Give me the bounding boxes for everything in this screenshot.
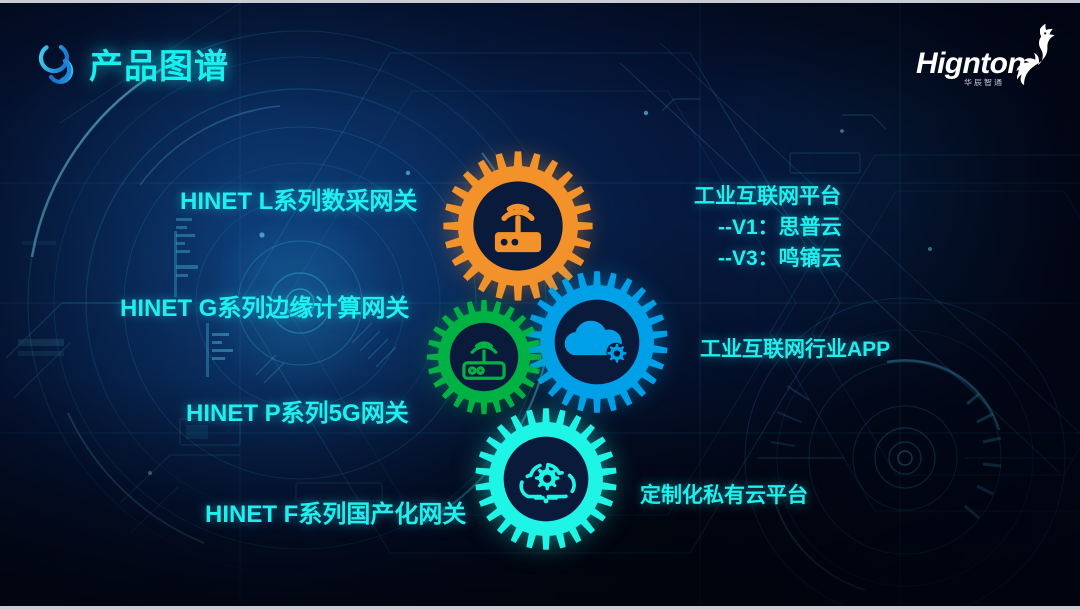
gear-cloud-platform: [524, 269, 670, 415]
cloud-gear-dashed-icon: [473, 406, 619, 552]
label-platform-v3: --V3：鸣镝云: [718, 242, 842, 272]
label-industrial-internet-app: 工业互联网行业APP: [700, 333, 890, 363]
gear-edge-gateway: [425, 298, 543, 416]
linked-circles-logo-icon: [31, 39, 83, 91]
label-hinet-f-series: HINET F系列国产化网关: [205, 494, 466, 529]
slide-header: 产品图谱 Hignton 华辰智通: [0, 3, 1080, 111]
router-wifi-outline-icon: [425, 298, 543, 416]
label-hinet-g-series: HINET G系列边缘计算网关: [120, 288, 409, 323]
label-hinet-p-series: HINET P系列5G网关: [186, 393, 409, 428]
label-platform-v1: --V1：思普云: [718, 211, 842, 241]
slide-canvas: 产品图谱 Hignton 华辰智通 HINET L系列数采网关 HINET G系…: [0, 0, 1080, 609]
cloud-gear-solid-icon: [524, 269, 670, 415]
brand-sub-wordmark: 华辰智通: [964, 78, 1004, 88]
label-hinet-l-series: HINET L系列数采网关: [180, 181, 417, 216]
brand-logo: Hignton 华辰智通: [916, 23, 1062, 97]
label-custom-private-cloud: 定制化私有云平台: [640, 479, 808, 509]
label-industrial-internet-platform: 工业互联网平台: [694, 180, 841, 210]
page-title: 产品图谱: [89, 39, 229, 88]
gear-private-cloud: [473, 406, 619, 552]
brand-wordmark: Hignton: [916, 47, 1025, 81]
